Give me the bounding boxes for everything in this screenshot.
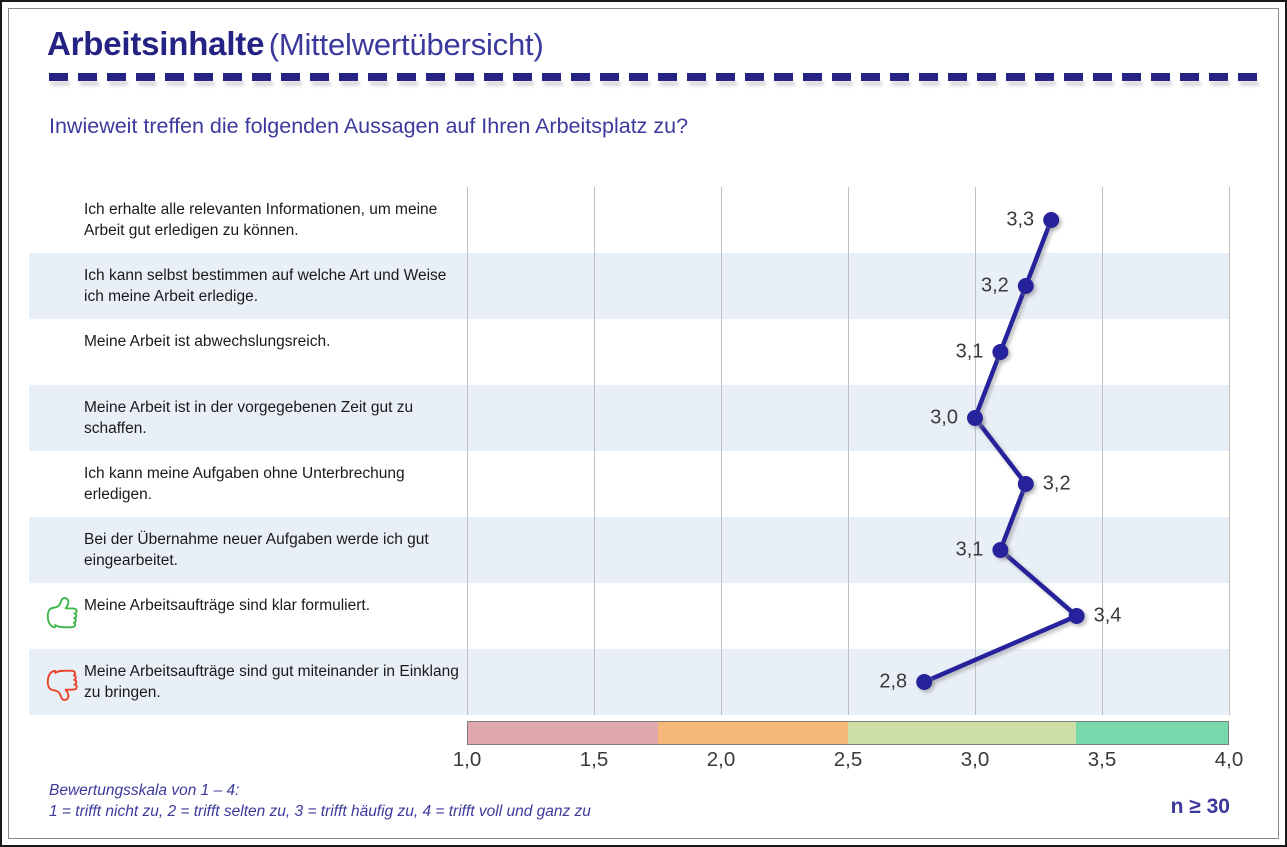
data-point-marker <box>1018 278 1034 294</box>
data-point-marker <box>1018 476 1034 492</box>
data-value-label: 3,2 <box>1043 473 1071 496</box>
title-main: Arbeitsinhalte <box>47 25 264 62</box>
x-tick-label: 3,5 <box>1088 748 1117 772</box>
data-point-marker <box>967 410 983 426</box>
statement-label: Ich kann meine Aufgaben ohne Unterbrechu… <box>84 463 462 505</box>
scale-segment <box>468 722 658 744</box>
data-value-label: 3,3 <box>1006 209 1034 232</box>
title-subtitle: (Mittelwertübersicht) <box>269 27 544 62</box>
x-axis-ticks: 1,01,52,02,53,03,54,0 <box>9 748 1287 778</box>
statement-label: Ich erhalte alle relevanten Informatione… <box>84 199 462 241</box>
slide-container: Arbeitsinhalte (Mittelwertübersicht) Inw… <box>0 0 1287 847</box>
scale-legend-line1: Bewertungsskala von 1 – 4: <box>49 780 591 801</box>
data-point-marker <box>916 674 932 690</box>
chart-area: Ich erhalte alle relevanten Informatione… <box>29 187 1239 715</box>
data-value-label: 3,4 <box>1094 605 1122 628</box>
plot-area <box>467 187 1229 715</box>
data-point-marker <box>1069 608 1085 624</box>
statement-label: Meine Arbeit ist abwechslungsreich. <box>84 331 462 352</box>
rating-color-scale <box>467 721 1229 745</box>
thumbs-up-icon <box>45 595 79 637</box>
x-tick-label: 1,0 <box>453 748 482 772</box>
statement-label: Meine Arbeit ist in der vorgegebenen Zei… <box>84 397 462 439</box>
page-title: Arbeitsinhalte (Mittelwertübersicht) <box>47 25 544 63</box>
scale-legend: Bewertungsskala von 1 – 4: 1 = trifft ni… <box>49 780 591 822</box>
data-value-label: 2,8 <box>879 671 907 694</box>
data-value-label: 3,1 <box>956 341 984 364</box>
x-tick-label: 3,0 <box>961 748 990 772</box>
scale-segment <box>658 722 848 744</box>
series-line <box>467 187 1229 715</box>
scale-segment <box>848 722 1076 744</box>
statement-label: Bei der Übernahme neuer Aufgaben werde i… <box>84 529 462 571</box>
data-value-label: 3,0 <box>930 407 958 430</box>
slide-inner-frame: Arbeitsinhalte (Mittelwertübersicht) Inw… <box>8 8 1279 839</box>
x-tick-label: 4,0 <box>1215 748 1244 772</box>
survey-question: Inwieweit treffen die folgenden Aussagen… <box>49 114 688 139</box>
scale-segment <box>1076 722 1228 744</box>
x-tick-label: 2,5 <box>834 748 863 772</box>
x-tick-label: 1,5 <box>580 748 609 772</box>
data-point-marker <box>1043 212 1059 228</box>
sample-size-label: n ≥ 30 <box>1171 795 1230 819</box>
title-divider <box>49 73 1259 81</box>
data-value-label: 3,2 <box>981 275 1009 298</box>
data-point-marker <box>992 542 1008 558</box>
statement-label: Meine Arbeitsaufträge sind klar formulie… <box>84 595 462 616</box>
statement-label: Ich kann selbst bestimmen auf welche Art… <box>84 265 462 307</box>
gridline <box>1229 187 1230 715</box>
statement-label: Meine Arbeitsaufträge sind gut miteinand… <box>84 661 462 703</box>
data-value-label: 3,1 <box>956 539 984 562</box>
thumbs-down-icon <box>45 661 79 703</box>
x-tick-label: 2,0 <box>707 748 736 772</box>
scale-legend-line2: 1 = trifft nicht zu, 2 = trifft selten z… <box>49 801 591 822</box>
data-point-marker <box>992 344 1008 360</box>
